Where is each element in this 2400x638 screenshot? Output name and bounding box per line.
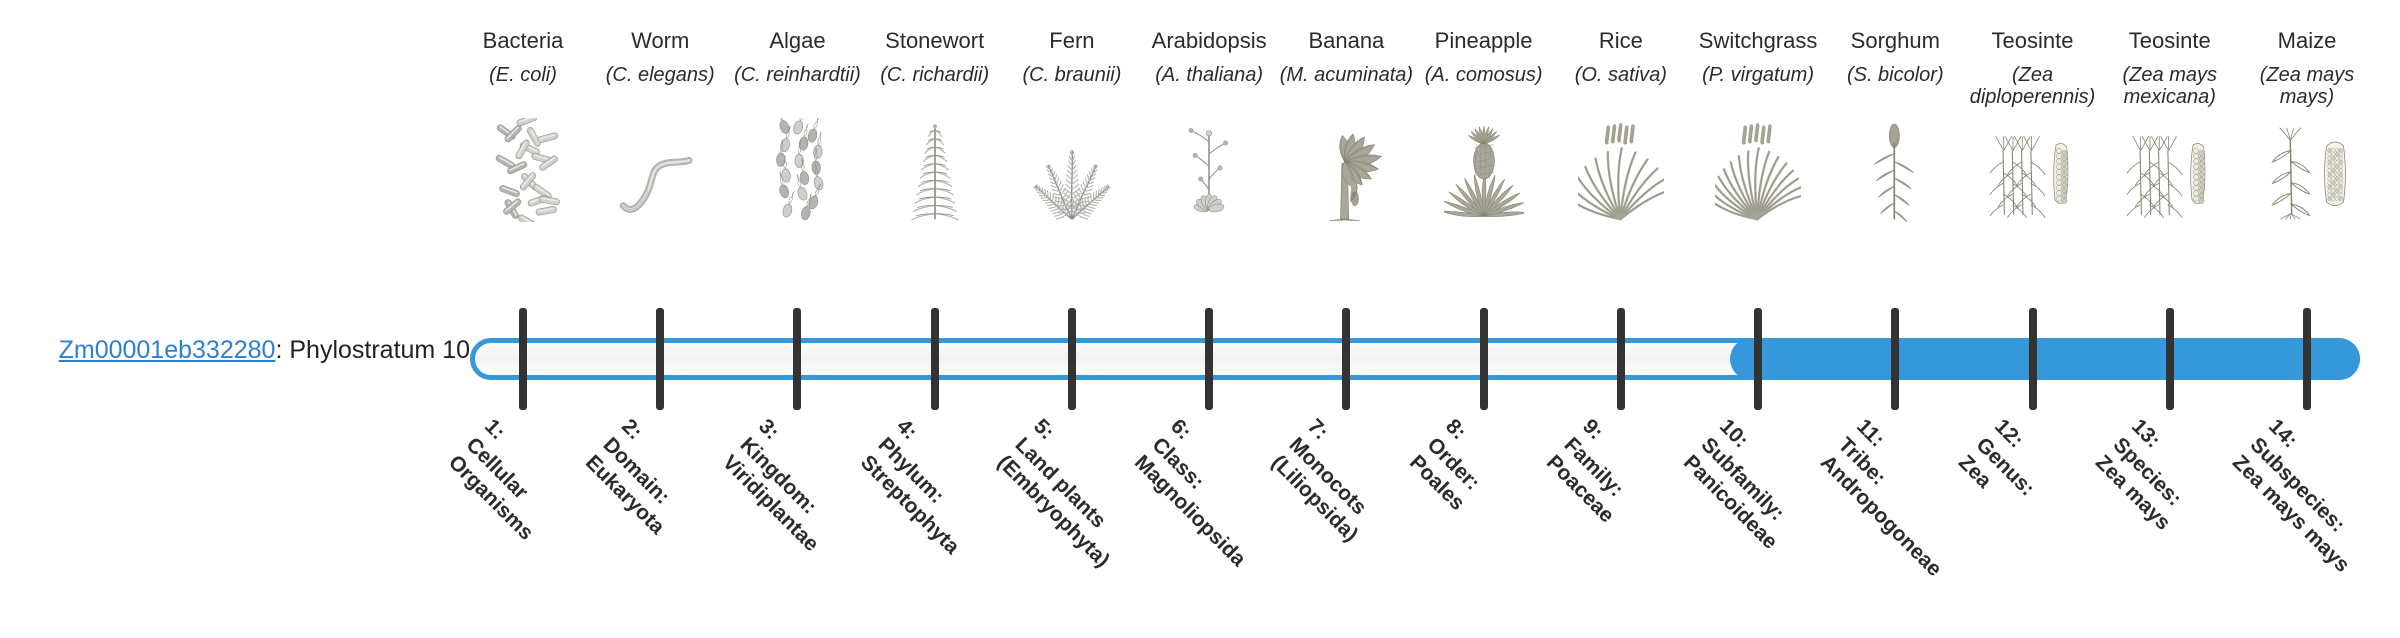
species-column: Bacteria(E. coli)	[455, 28, 591, 222]
phylostratum-tick[interactable]	[1480, 308, 1488, 410]
phylostratum-tick-group	[470, 338, 2360, 380]
nematode-worm-icon	[592, 114, 728, 222]
species-common-name: Bacteria	[455, 28, 591, 58]
phylostratum-tick[interactable]	[1205, 308, 1213, 410]
species-column: Switchgrass(P. virgatum)	[1690, 28, 1826, 222]
fern-frond-icon	[1004, 114, 1140, 222]
maize-plant-and-cob-icon	[2239, 114, 2375, 222]
gene-label-separator: :	[275, 336, 289, 364]
species-column: Banana(M. acuminata)	[1278, 28, 1414, 222]
species-common-name: Maize	[2239, 28, 2375, 58]
phylostratum-bar	[470, 338, 2360, 380]
species-common-name: Teosinte	[2102, 28, 2238, 58]
species-scientific-name: (C. braunii)	[1004, 64, 1140, 110]
species-scientific-name: (O. sativa)	[1553, 64, 1689, 110]
teosinte-plant-and-ear-icon	[2102, 114, 2238, 222]
pineapple-plant-icon	[1416, 114, 1552, 222]
species-column: Worm(C. elegans)	[592, 28, 728, 222]
teosinte-plant-and-ear-icon	[1965, 114, 2101, 222]
species-scientific-name: (M. acuminata)	[1278, 64, 1414, 110]
phylostratum-tick[interactable]	[2303, 308, 2311, 410]
species-scientific-name: (S. bicolor)	[1827, 64, 1963, 110]
species-common-name: Rice	[1553, 28, 1689, 58]
phylostratum-tick[interactable]	[931, 308, 939, 410]
species-column: Stonewort(C. richardii)	[867, 28, 1003, 222]
species-scientific-name: (P. virgatum)	[1690, 64, 1826, 110]
species-common-name: Algae	[729, 28, 865, 58]
species-header-row: Bacteria(E. coli)	[466, 28, 2366, 308]
species-common-name: Stonewort	[867, 28, 1003, 58]
species-column: Teosinte(Zea diploperennis)	[1965, 28, 2101, 222]
species-column: Arabidopsis(A. thaliana)	[1141, 28, 1277, 222]
phylostratum-tick[interactable]	[519, 308, 527, 410]
phylostratum-figure: Zm00001eb332280: Phylostratum 10 Bacteri…	[0, 0, 2400, 580]
species-scientific-name: (A. thaliana)	[1141, 64, 1277, 110]
stonewort-alga-icon	[867, 114, 1003, 222]
species-scientific-name: (Zea mays mays)	[2239, 64, 2375, 110]
species-scientific-name: (C. reinhardtii)	[729, 64, 865, 110]
species-common-name: Sorghum	[1827, 28, 1963, 58]
taxonomy-label-row: 1: Cellular Organisms2: Domain: Eukaryot…	[470, 404, 2360, 580]
species-column: Teosinte(Zea mays mexicana)	[2102, 28, 2238, 222]
species-column: Pineapple(A. comosus)	[1416, 28, 1552, 222]
gene-id-link[interactable]: Zm00001eb332280	[59, 336, 276, 364]
species-column: Algae(C. reinhardtii)	[729, 28, 865, 222]
species-common-name: Worm	[592, 28, 728, 58]
phylostratum-tick[interactable]	[1891, 308, 1899, 410]
banana-plant-icon	[1278, 114, 1414, 222]
species-column: Fern(C. braunii)	[1004, 28, 1140, 222]
species-common-name: Pineapple	[1416, 28, 1552, 58]
phylostratum-tick[interactable]	[656, 308, 664, 410]
species-common-name: Fern	[1004, 28, 1140, 58]
species-common-name: Arabidopsis	[1141, 28, 1277, 58]
bacteria-rods-icon	[455, 114, 591, 222]
species-scientific-name: (E. coli)	[455, 64, 591, 110]
phylostratum-tick[interactable]	[2029, 308, 2037, 410]
species-column: Sorghum(S. bicolor)	[1827, 28, 1963, 222]
sorghum-plant-icon	[1827, 114, 1963, 222]
phylostratum-tick[interactable]	[1068, 308, 1076, 410]
phylostratum-tick[interactable]	[1342, 308, 1350, 410]
species-scientific-name: (Zea diploperennis)	[1965, 64, 2101, 110]
species-scientific-name: (C. elegans)	[592, 64, 728, 110]
species-common-name: Switchgrass	[1690, 28, 1826, 58]
species-common-name: Teosinte	[1965, 28, 2101, 58]
species-scientific-name: (A. comosus)	[1416, 64, 1552, 110]
algae-cells-icon	[729, 114, 865, 222]
switchgrass-plant-icon	[1690, 114, 1826, 222]
species-column: Rice(O. sativa)	[1553, 28, 1689, 222]
phylostratum-tick[interactable]	[1617, 308, 1625, 410]
species-column: Maize(Zea mays mays)	[2239, 28, 2375, 222]
rice-plant-icon	[1553, 114, 1689, 222]
gene-phylostratum-label: Zm00001eb332280: Phylostratum 10	[30, 336, 470, 365]
species-scientific-name: (Zea mays mexicana)	[2102, 64, 2238, 110]
species-common-name: Banana	[1278, 28, 1414, 58]
species-scientific-name: (C. richardii)	[867, 64, 1003, 110]
arabidopsis-plant-icon	[1141, 114, 1277, 222]
phylostratum-tick[interactable]	[793, 308, 801, 410]
phylostratum-tick[interactable]	[1754, 308, 1762, 410]
phylostratum-tick[interactable]	[2166, 308, 2174, 410]
phylostratum-value-text: Phylostratum 10	[289, 336, 470, 364]
